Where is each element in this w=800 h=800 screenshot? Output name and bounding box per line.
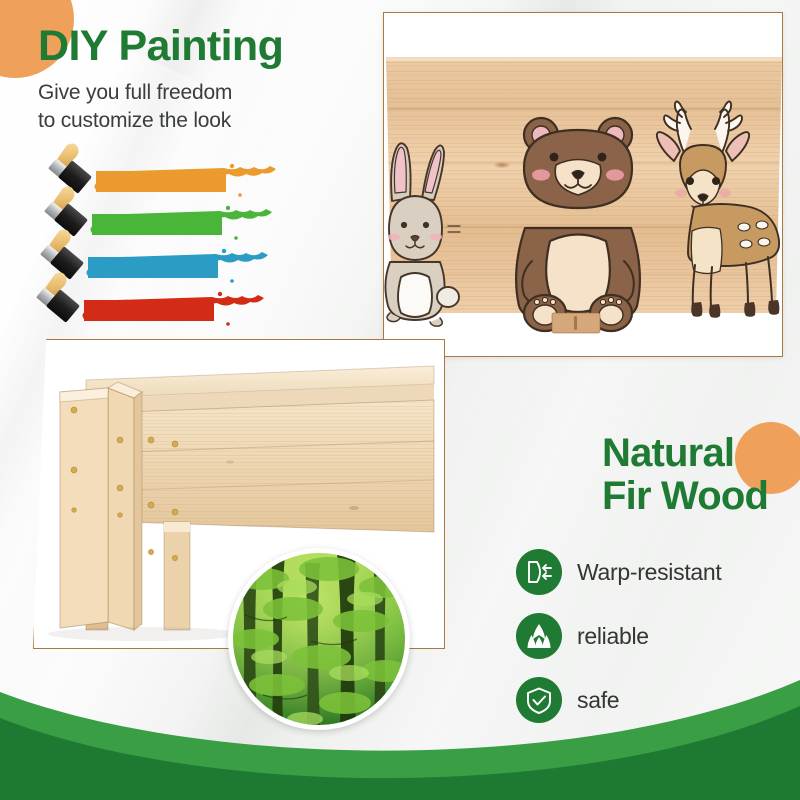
feature-item-safe: safe — [516, 677, 786, 723]
paint-stroke-blue — [87, 249, 269, 283]
paint-brushes-illustration — [36, 142, 286, 342]
feature-list: Warp-resistant reliable safe — [516, 549, 786, 741]
diy-subtitle: Give you full freedom to customize the l… — [38, 79, 283, 135]
pine-tree-icon — [516, 613, 562, 659]
natural-title-line-2: Fir Wood — [602, 475, 768, 518]
diy-subtitle-line-2: to customize the look — [38, 107, 283, 135]
forest-inset — [228, 548, 410, 730]
paint-brush-blue — [40, 230, 84, 280]
paint-stroke-red — [83, 292, 265, 326]
feature-item-reliable: reliable — [516, 613, 786, 659]
feature-label-warp-resistant: Warp-resistant — [577, 559, 721, 586]
animals-product-panel — [383, 12, 783, 357]
paint-brush-red — [36, 273, 80, 323]
warp-resistant-icon — [516, 549, 562, 595]
paint-stroke-green — [91, 206, 273, 240]
feature-label-reliable: reliable — [577, 623, 649, 650]
feature-item-warp-resistant: Warp-resistant — [516, 549, 786, 595]
paint-brush-orange — [48, 144, 92, 194]
planter-corner-post — [108, 382, 142, 630]
animals-board-image — [384, 13, 783, 357]
paint-stroke-orange — [95, 164, 277, 197]
page-title: DIY Painting — [38, 24, 283, 69]
natural-heading-block: Natural Fir Wood — [602, 432, 768, 518]
paint-brush-green — [44, 187, 88, 237]
planter-front-leg — [60, 388, 108, 628]
natural-title-line-1: Natural — [602, 432, 768, 475]
forest-photo — [233, 553, 405, 725]
shield-check-icon — [516, 677, 562, 723]
diy-subtitle-line-1: Give you full freedom — [38, 79, 283, 107]
feature-label-safe: safe — [577, 687, 619, 714]
infographic-canvas: DIY Painting Give you full freedom to cu… — [0, 0, 800, 800]
diy-heading-block: DIY Painting Give you full freedom to cu… — [38, 24, 283, 135]
wooden-knob — [552, 313, 600, 333]
